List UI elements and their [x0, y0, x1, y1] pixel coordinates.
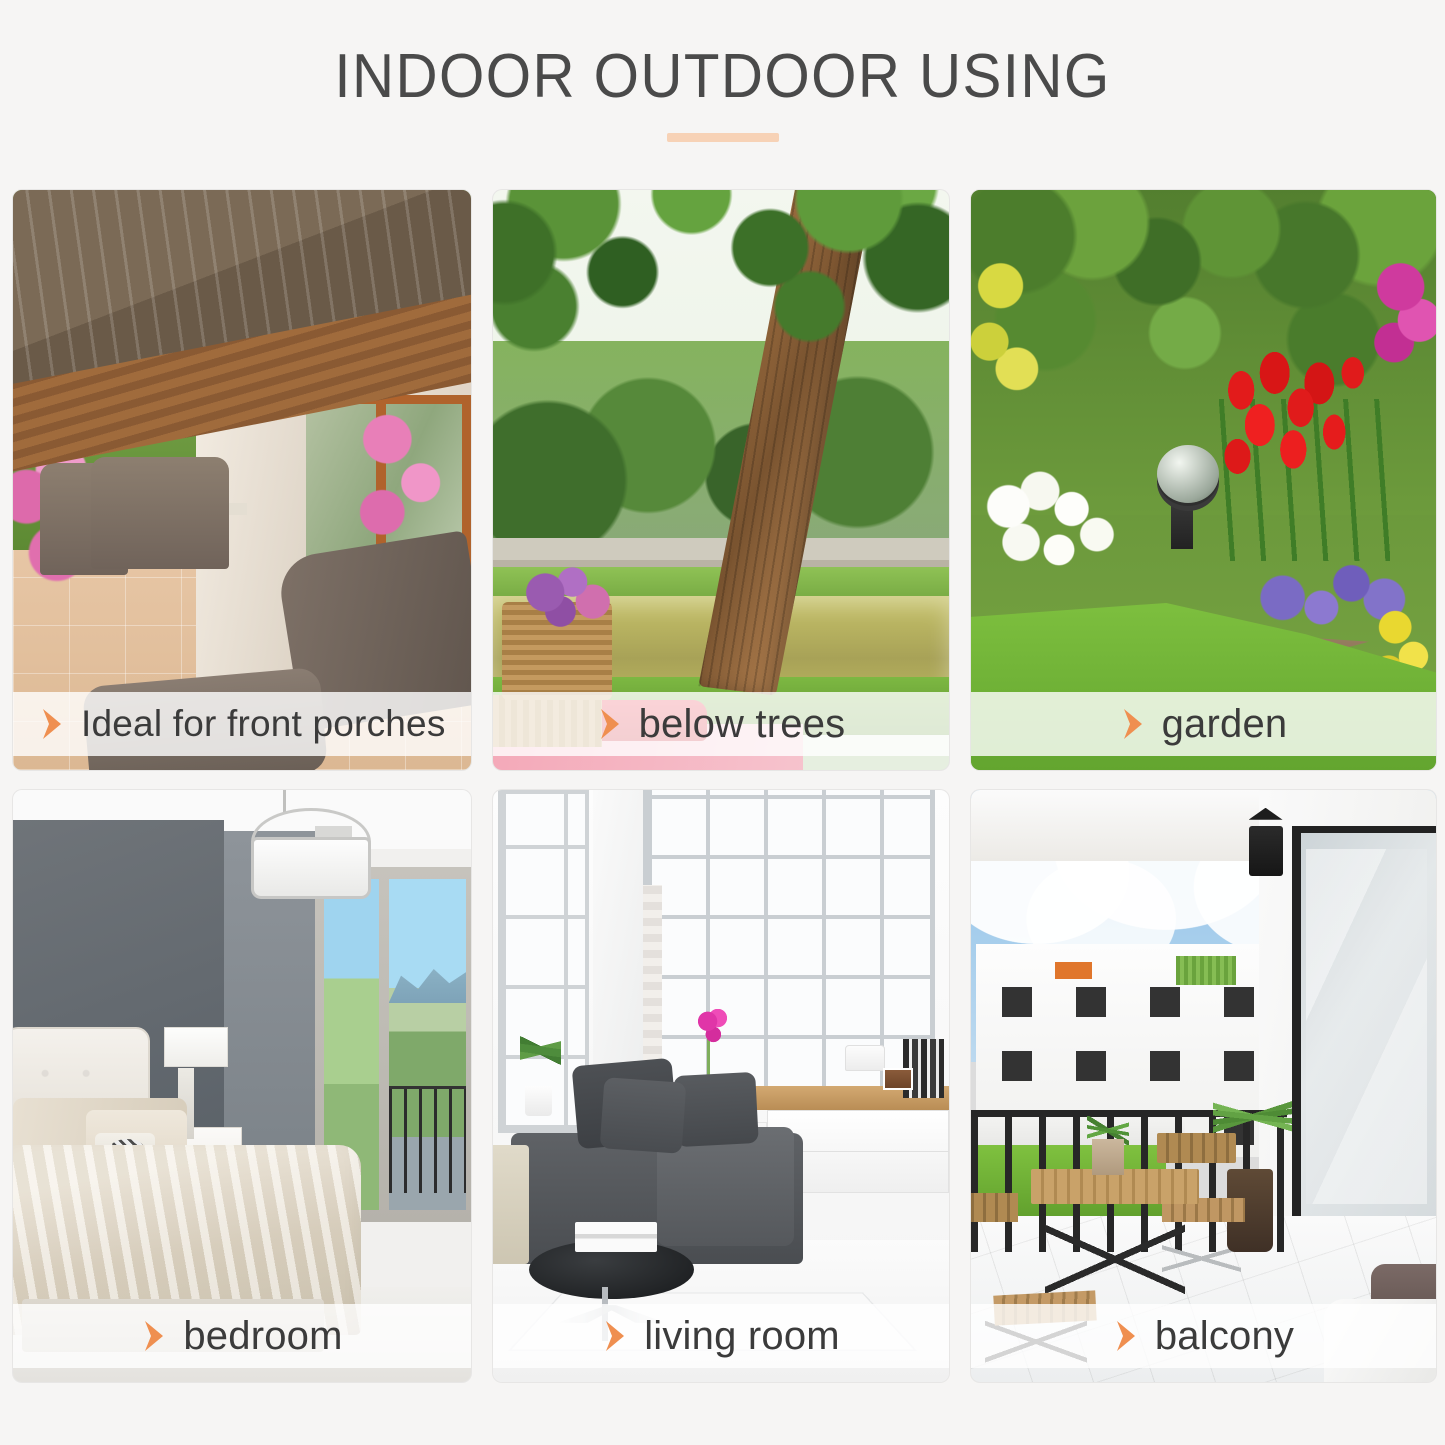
scene-tile-front-porch[interactable]: Ideal for front porches [13, 190, 471, 770]
chevron-right-icon [1120, 707, 1146, 741]
title-underline-bar [667, 133, 779, 142]
chevron-right-icon [141, 1319, 167, 1353]
page-title: INDOOR OUTDOOR USING [43, 44, 1401, 109]
caption-banner: balcony [971, 1304, 1436, 1368]
caption-label: bedroom [183, 1314, 342, 1359]
caption-label: below trees [639, 702, 846, 747]
scene-tile-bedroom[interactable]: bedroom [13, 790, 471, 1382]
caption-banner: living room [493, 1304, 949, 1368]
infographic-page: INDOOR OUTDOOR USING [0, 0, 1445, 1445]
scene-tile-below-trees[interactable]: below trees [493, 190, 949, 770]
living-room-photo [493, 790, 949, 1382]
garden-photo [971, 190, 1436, 770]
caption-banner: garden [971, 692, 1436, 756]
caption-banner: Ideal for front porches [13, 692, 471, 756]
chevron-right-icon [39, 707, 65, 741]
header: INDOOR OUTDOOR USING [0, 0, 1445, 142]
scene-tile-balcony[interactable]: balcony [971, 790, 1436, 1382]
front-porch-photo [13, 190, 471, 770]
chevron-right-icon [1113, 1319, 1139, 1353]
below-trees-photo [493, 190, 949, 770]
caption-label: balcony [1155, 1314, 1294, 1359]
caption-label: living room [644, 1314, 840, 1359]
chevron-right-icon [597, 707, 623, 741]
chevron-right-icon [602, 1319, 628, 1353]
scene-tile-garden[interactable]: garden [971, 190, 1436, 770]
caption-banner: bedroom [13, 1304, 471, 1368]
scene-tile-living-room[interactable]: living room [493, 790, 949, 1382]
caption-label: Ideal for front porches [81, 703, 446, 745]
caption-banner: below trees [493, 692, 949, 756]
caption-label: garden [1162, 702, 1288, 747]
balcony-photo [971, 790, 1436, 1382]
usage-scenes-grid: Ideal for front porches [13, 190, 1433, 1382]
bedroom-photo [13, 790, 471, 1382]
